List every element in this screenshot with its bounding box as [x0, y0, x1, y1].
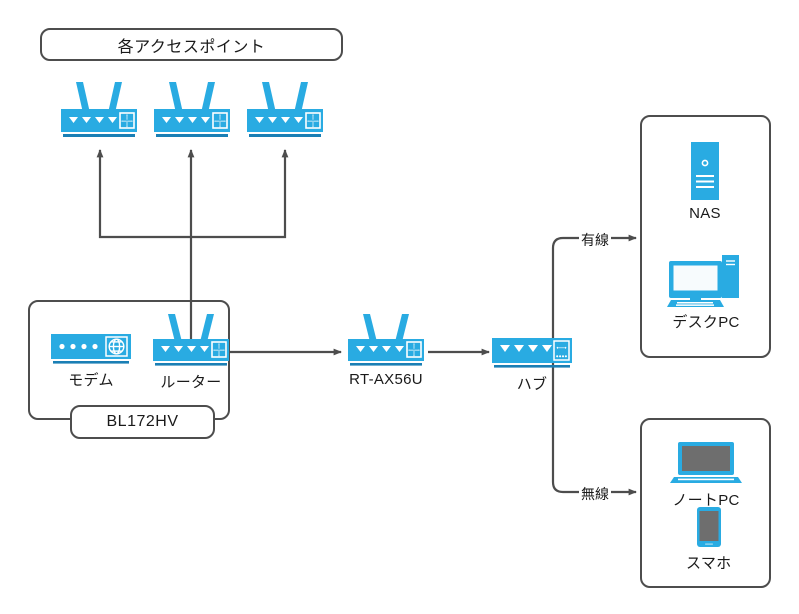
hub-device: ハブ	[490, 336, 574, 394]
desktop-pc-device: デスクPC	[665, 252, 747, 332]
access-points-title-box: 各アクセスポイント	[40, 28, 343, 61]
modem-device: モデム	[49, 332, 133, 390]
gateway-model-label: BL172HV	[107, 413, 179, 431]
gateway-router-label: ルーター	[160, 371, 221, 392]
hub-label: ハブ	[517, 373, 548, 394]
access-point-2	[146, 80, 238, 140]
desktop-pc-label: デスクPC	[672, 311, 739, 332]
network-hub-icon	[490, 336, 574, 370]
wifi-router-icon	[239, 80, 331, 140]
access-point-1	[53, 80, 145, 140]
nas-label: NAS	[689, 205, 721, 222]
hub-to-wired-link	[553, 238, 636, 352]
nas-tower-icon	[683, 140, 727, 202]
gateway-router-device: ルーター	[145, 312, 237, 392]
rt-ax56u-device: RT-AX56U	[340, 312, 432, 388]
access-points-title-label: 各アクセスポイント	[118, 33, 266, 57]
modem-label: モデム	[68, 369, 114, 390]
wifi-router-icon	[53, 80, 145, 140]
desktop-pc-icon	[665, 252, 747, 308]
wifi-router-icon	[340, 312, 432, 368]
wifi-router-icon	[145, 312, 237, 368]
smartphone-device: スマホ	[686, 505, 731, 573]
smartphone-label: スマホ	[686, 552, 731, 573]
wifi-router-icon	[146, 80, 238, 140]
smartphone-icon	[689, 505, 729, 549]
nas-device: NAS	[683, 140, 727, 222]
network-diagram-canvas: 各アクセスポイント	[0, 0, 799, 614]
laptop-icon	[669, 440, 743, 486]
modem-icon	[49, 332, 133, 366]
laptop-device: ノートPC	[669, 440, 743, 510]
wired-link-label: 有線	[579, 230, 611, 250]
rt-ax56u-label: RT-AX56U	[349, 371, 423, 388]
gateway-model-box: BL172HV	[70, 405, 215, 439]
access-point-3	[239, 80, 331, 140]
wireless-link-label: 無線	[579, 484, 611, 504]
